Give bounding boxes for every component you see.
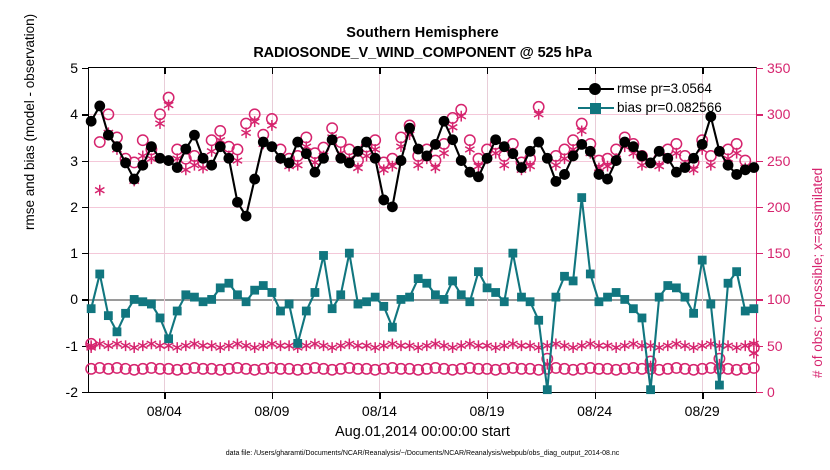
y-tick-label--2: -2 bbox=[66, 384, 78, 400]
rmse-marker bbox=[473, 171, 484, 182]
rmse-marker bbox=[439, 116, 450, 127]
y-tick-label--1: -1 bbox=[66, 338, 78, 354]
chart-figure: Southern Hemisphere RADIOSONDE_V_WIND_CO… bbox=[0, 0, 830, 470]
rmse-marker bbox=[215, 141, 226, 152]
rmse-marker bbox=[559, 169, 570, 180]
y2-tick-label-150: 150 bbox=[767, 245, 790, 261]
x-tick-label-08/19: 08/19 bbox=[470, 403, 505, 419]
rmse-marker bbox=[120, 157, 131, 168]
x-tick-label-08/09: 08/09 bbox=[254, 403, 289, 419]
y-tick-mark bbox=[82, 114, 89, 115]
rmse-marker bbox=[370, 153, 381, 164]
rmse-marker bbox=[129, 174, 140, 185]
rmse-marker bbox=[396, 155, 407, 166]
page-title: Southern Hemisphere bbox=[88, 24, 757, 44]
rmse-marker bbox=[318, 153, 329, 164]
y-tick-label-5: 5 bbox=[70, 60, 78, 76]
rmse-marker bbox=[525, 146, 536, 157]
y2-tick-label-250: 250 bbox=[767, 153, 790, 169]
secondary-y-axis-title: # of obs: o=possible; x=assimilated bbox=[810, 168, 825, 378]
chart-subtitle: RADIOSONDE_V_WIND_COMPONENT @ 525 hPa bbox=[88, 44, 757, 64]
x-tick-mark bbox=[595, 392, 596, 399]
rmse-marker bbox=[611, 155, 622, 166]
y2-tick-label-350: 350 bbox=[767, 60, 790, 76]
x-tick-mark bbox=[164, 392, 165, 399]
x-tick-label-08/24: 08/24 bbox=[577, 403, 612, 419]
y2-tick-mark bbox=[756, 392, 763, 393]
rmse-marker bbox=[568, 151, 579, 162]
y2-tick-mark bbox=[756, 299, 763, 300]
rmse-marker bbox=[585, 146, 596, 157]
rmse-marker bbox=[654, 146, 665, 157]
rmse-marker bbox=[748, 162, 759, 173]
x-tick-mark bbox=[487, 392, 488, 399]
y2-tick-label-300: 300 bbox=[767, 106, 790, 122]
x-tick-mark bbox=[272, 392, 273, 399]
rmse-marker bbox=[94, 101, 105, 112]
rmse-marker bbox=[507, 148, 518, 159]
y-tick-label-0: 0 bbox=[70, 291, 78, 307]
rmse-marker bbox=[292, 137, 303, 148]
legend-marker-bias bbox=[578, 99, 614, 117]
y-tick-mark bbox=[82, 161, 89, 162]
rmse-marker bbox=[387, 201, 398, 212]
rmse-marker bbox=[378, 195, 389, 206]
rmse-marker bbox=[223, 153, 234, 164]
x-tick-mark bbox=[379, 392, 380, 399]
rmse-marker bbox=[447, 134, 458, 145]
x-tick-label-08/14: 08/14 bbox=[362, 403, 397, 419]
rmse-marker bbox=[266, 141, 277, 152]
rmse-marker bbox=[551, 176, 562, 187]
y2-tick-mark bbox=[756, 114, 763, 115]
rmse-marker bbox=[137, 160, 148, 171]
rmse-marker bbox=[430, 139, 441, 150]
y2-tick-label-100: 100 bbox=[767, 291, 790, 307]
rmse-marker bbox=[688, 153, 699, 164]
rmse-marker bbox=[86, 116, 97, 127]
y-tick-mark bbox=[82, 392, 89, 393]
y2-tick-label-50: 50 bbox=[767, 338, 783, 354]
rmse-marker bbox=[189, 130, 200, 141]
rmse-marker bbox=[198, 153, 209, 164]
rmse-marker bbox=[146, 141, 157, 152]
rmse-marker bbox=[301, 148, 312, 159]
rmse-marker bbox=[482, 153, 493, 164]
y-tick-label-1: 1 bbox=[70, 245, 78, 261]
legend-label-rmse: rmse pr=3.0564 bbox=[617, 81, 712, 96]
y-tick-mark bbox=[82, 253, 89, 254]
rmse-marker bbox=[680, 162, 691, 173]
rmse-marker bbox=[232, 197, 243, 208]
rmse-marker bbox=[163, 155, 174, 166]
rmse-marker bbox=[241, 211, 252, 222]
legend-item-bias[interactable]: bias pr=0.082566 bbox=[578, 98, 722, 117]
rmse-marker bbox=[576, 139, 587, 150]
y2-tick-mark bbox=[756, 161, 763, 162]
data-file-note: data file: /Users/gharamti/Documents/NCA… bbox=[88, 450, 757, 457]
rmse-marker bbox=[180, 144, 191, 155]
y2-tick-label-0: 0 bbox=[767, 384, 775, 400]
y-tick-label-4: 4 bbox=[70, 106, 78, 122]
rmse-marker bbox=[327, 134, 338, 145]
chart-legend: rmse pr=3.0564 bias pr=0.082566 bbox=[578, 79, 755, 118]
y-tick-mark bbox=[82, 207, 89, 208]
x-tick-label-08/04: 08/04 bbox=[147, 403, 182, 419]
y-tick-mark bbox=[82, 299, 89, 300]
x-tick-label-08/29: 08/29 bbox=[685, 403, 720, 419]
legend-item-rmse[interactable]: rmse pr=3.0564 bbox=[578, 79, 712, 98]
y2-tick-mark bbox=[756, 207, 763, 208]
rmse-marker bbox=[344, 157, 355, 168]
rmse-marker bbox=[697, 139, 708, 150]
x-tick-mark bbox=[702, 392, 703, 399]
rmse-marker bbox=[628, 141, 639, 152]
rmse-marker bbox=[533, 137, 544, 148]
rmse-marker bbox=[490, 134, 501, 145]
y2-tick-mark bbox=[756, 253, 763, 254]
rmse-marker bbox=[361, 137, 372, 148]
rmse-marker bbox=[637, 151, 648, 162]
rmse-marker bbox=[310, 167, 321, 178]
rmse-marker bbox=[413, 144, 424, 155]
legend-label-bias: bias pr=0.082566 bbox=[617, 100, 722, 115]
legend-marker-rmse bbox=[578, 80, 614, 98]
rmse-marker bbox=[645, 157, 656, 168]
rmse-marker bbox=[353, 146, 364, 157]
rmse-marker bbox=[723, 160, 734, 171]
rmse-marker bbox=[542, 153, 553, 164]
filled-circle-icon bbox=[589, 83, 601, 95]
filled-square-icon bbox=[590, 103, 601, 114]
y-tick-mark bbox=[82, 68, 89, 69]
rmse-marker bbox=[714, 146, 725, 157]
rmse-marker bbox=[249, 174, 260, 185]
rmse-marker bbox=[284, 157, 295, 168]
y-axis-title: rmse and bias (model - observation) bbox=[22, 14, 37, 230]
rmse-marker bbox=[206, 160, 217, 171]
x-axis-title: Aug.01,2014 00:00:00 start bbox=[88, 424, 757, 440]
chart-title-block: Southern Hemisphere RADIOSONDE_V_WIND_CO… bbox=[88, 24, 757, 63]
rmse-marker bbox=[662, 153, 673, 164]
y2-tick-label-200: 200 bbox=[767, 199, 790, 215]
rmse-marker bbox=[456, 155, 467, 166]
rmse-marker bbox=[404, 123, 415, 134]
rmse-marker bbox=[499, 141, 510, 152]
rmse-marker bbox=[516, 162, 527, 173]
rmse-marker bbox=[602, 174, 613, 185]
y2-tick-mark bbox=[756, 68, 763, 69]
rmse-marker bbox=[103, 130, 114, 141]
y-tick-label-2: 2 bbox=[70, 199, 78, 215]
rmse-marker bbox=[172, 162, 183, 173]
y-tick-label-3: 3 bbox=[70, 153, 78, 169]
rmse-marker bbox=[112, 141, 123, 152]
rmse-marker bbox=[421, 151, 432, 162]
